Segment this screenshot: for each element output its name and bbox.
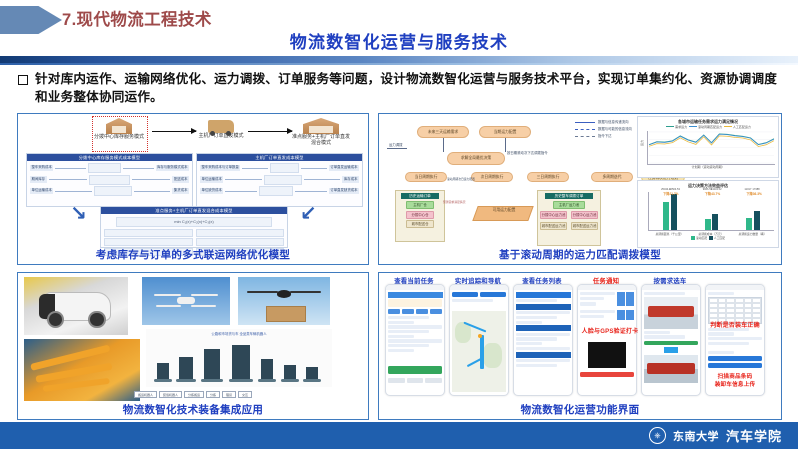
- lineup-label: 分拣: [206, 391, 220, 398]
- connector-line: [443, 138, 444, 152]
- panel1-diagram: 分拨中心库存服务模式 主机厂订单直发模式 准点服务+主机厂订单直发混合模式 分拨…: [18, 114, 368, 248]
- curved-arrow-left-icon: ↘: [70, 204, 87, 224]
- route-map[interactable]: [452, 311, 506, 392]
- node-oem-direct: 主机厂订单直发模式: [198, 120, 244, 140]
- phone-task-notification: [577, 284, 637, 396]
- phone-task-list: [513, 284, 573, 396]
- panel2-caption: 基于滚动周期的运力匹配调拨模型: [379, 247, 781, 262]
- slide-title: 物流数智化运营与服务技术: [0, 28, 798, 53]
- confirm-button[interactable]: [388, 366, 442, 374]
- lineup-label: 搬运机器人: [134, 391, 157, 398]
- node-available-capacity: 可用运力配置: [472, 206, 533, 221]
- checkin-button[interactable]: [580, 372, 634, 377]
- lineup-label: 交互: [238, 391, 252, 398]
- bar-rolling: 25434.4: [663, 202, 669, 230]
- scan-button-2[interactable]: [708, 363, 762, 368]
- bullet-text: 针对库内运作、运输网络优化、运力调拨、订单服务等问题，设计物流数智化运营与服务技…: [35, 70, 784, 107]
- lineup-label: 理货: [222, 391, 236, 398]
- header-divider-gradient: [0, 56, 798, 63]
- node-day3-exec: 三日周期执行: [527, 172, 569, 182]
- curved-arrow-right-icon: ↙: [300, 204, 317, 224]
- robot-lineup-photo: 公路和市场货与车 全品类车辆机器人: [146, 329, 332, 387]
- node-hybrid-mode: 准点服务+主机厂订单直发混合模式: [292, 118, 350, 147]
- phone-select-vehicle: [641, 284, 701, 396]
- group-capacity-pools: 历史整车调拨订单 主机厂运力池 分拨中心运力池 分拨中心运力池 城市配送运力池 …: [537, 190, 601, 246]
- flow-arrow-1: [152, 131, 196, 132]
- phone-current-task: [385, 284, 445, 396]
- qr-code-image: [588, 342, 626, 368]
- panel-operation-interfaces: 查看当前任务 实时追踪和导航: [378, 272, 782, 420]
- university-crest-icon: ⎈: [649, 427, 666, 444]
- label-demand-satisfaction: 预测需求满足情况: [443, 200, 465, 206]
- objective-formula: min C₁(x)+C₂(x)+C₃(x): [116, 217, 272, 227]
- connector-line: [505, 138, 506, 152]
- truck-photo-1: [644, 297, 698, 329]
- nav-button-1[interactable]: [452, 292, 478, 297]
- cargo-drone-photo: [238, 277, 330, 325]
- warehouse-truck-icon: [303, 118, 339, 134]
- bar-annotation: 下降21.7%: [663, 191, 678, 196]
- note-scan-line1: 扫描商品条码: [697, 374, 773, 380]
- model-box-hybrid: 准点服务+主机厂订单直发混合成本模型 min C₁(x)+C₂(x)+C₃(x): [100, 206, 288, 248]
- node-multi-period: 多周期迭代: [591, 172, 633, 182]
- bar-manual: 32504.53: [671, 194, 677, 229]
- bar-group: 下降21.7%25434.432504.53: [663, 192, 677, 230]
- task-action-chips[interactable]: [388, 309, 442, 314]
- action-chip[interactable]: [664, 347, 678, 353]
- bar-group: 下降43.7%9966.5314234.52: [705, 192, 719, 230]
- chart1-svg: [648, 131, 775, 164]
- square-bullet-icon: [18, 75, 28, 85]
- panel4-caption: 物流数智化运营功能界面: [379, 402, 781, 417]
- phone-tracking-navigation: [449, 284, 509, 396]
- model-box-inventory: 分拨中心库存服务模式成本模型 整车采购成本库存与服务模式成本 期间库存配送成本 …: [26, 153, 193, 207]
- panel-network-optimization-model: 分拨中心库存服务模式 主机厂订单直发模式 准点服务+主机厂订单直发混合模式 分拨…: [17, 113, 369, 265]
- node-future-demand: 未来三天运输需求: [417, 126, 469, 138]
- flow-legend: 数据与信息传递流向 数据与可能的信息流向 指令下达: [575, 119, 632, 139]
- panel1-caption: 考虑库存与订单的多式联运网络优化模型: [18, 247, 368, 262]
- bar-group: 下降36.3%1101717388: [746, 192, 760, 230]
- select-confirm-button[interactable]: [644, 341, 698, 345]
- node-day2-exec: 次日周期执行: [471, 172, 513, 182]
- bar-rolling: 9966.53: [705, 219, 711, 230]
- bar-manual: 14234.52: [712, 214, 718, 229]
- chart2-bars: 下降21.7%25434.432504.53下降43.7%9966.531423…: [648, 192, 774, 231]
- panel3-photos: 公路和市场货与车 全品类车辆机器人 搬运机器人装载机器人分拣搬运分拣理货交互: [18, 273, 368, 403]
- bar-rolling: 11017: [746, 218, 752, 230]
- bar-manual: 17388: [754, 211, 760, 230]
- chart-capacity-benefit: 运力决策方法效益评估 下降21.7%25434.432504.53下降43.7%…: [637, 180, 779, 248]
- task-list-header: [516, 292, 571, 298]
- bar-annotation: 下降43.7%: [705, 191, 720, 196]
- bullet-paragraph: 针对库内运作、运输网络优化、运力调拨、订单服务等问题，设计物流数智化运营与服务技…: [18, 70, 784, 107]
- connector-line: [387, 148, 407, 149]
- bar-annotation: 下降36.3%: [746, 191, 761, 196]
- chart1-plot: [647, 131, 775, 165]
- label-rolling-instruction: 按日期滚动次下达调拨指令: [507, 150, 548, 157]
- panel3-caption: 物流数智化技术装备集成应用: [18, 402, 368, 417]
- panel-capacity-matching-model: 数据与信息传递流向 数据与可能的信息流向 指令下达 未来三天运输需求 当期运力配…: [378, 113, 782, 265]
- robot-lineup-title: 公路和市场货与车 全品类车辆机器人: [146, 331, 332, 336]
- flow-arrow-2: [248, 131, 292, 132]
- note-scan-line2: 装卸车信息上传: [697, 382, 773, 388]
- node-global-optimum: 求解全局最优决策: [447, 152, 505, 165]
- college-name: 汽车学院: [726, 426, 782, 445]
- chart2-legend: 滚动匹配 人工匹配: [638, 236, 778, 240]
- chart-demand-satisfaction: 各城市运输任务需求运力满足情况 需求运力 滚动周期匹配运力 人工匹配运力 计划期…: [637, 116, 779, 178]
- quadcopter-drone-photo: [142, 277, 230, 325]
- scan-button-1[interactable]: [708, 356, 762, 361]
- lineup-label: 装载机器人: [159, 391, 182, 398]
- panel2-diagram: 数据与信息传递流向 数据与可能的信息流向 指令下达 未来三天运输需求 当期运力配…: [379, 114, 781, 248]
- bar-category-label: 总调拨距离（千公里）: [655, 232, 683, 236]
- section-number-title: 7.现代物流工程技术: [62, 6, 212, 30]
- bar-category-label: 总调拨运力数量（辆）: [739, 232, 767, 236]
- node-day1-exec: 当日周期执行: [405, 172, 447, 182]
- slide-footer: ⎈ 东南大学 汽车学院: [0, 422, 798, 449]
- node-distribution-center: 分拨中心库存服务模式: [94, 118, 144, 141]
- truck-photo-2: [644, 355, 698, 383]
- panel-equipment-integration: 公路和市场货与车 全品类车辆机器人 搬运机器人装载机器人分拣搬运分拣理货交互 物…: [17, 272, 369, 420]
- nav-button-2[interactable]: [480, 292, 506, 297]
- vehicle-marker-icon: [478, 334, 482, 338]
- header-divider-thin: [0, 63, 798, 65]
- node-current-capacity: 当期运力配置: [479, 126, 531, 138]
- label-next-day-capacity: 滚动周期次日运力配置: [447, 177, 475, 183]
- panel4-phones: 查看当前任务 实时追踪和导航: [379, 273, 781, 403]
- robot-lineup-labels: 搬运机器人装载机器人分拣搬运分拣理货交互: [18, 391, 368, 398]
- warehouse-icon: [106, 118, 132, 134]
- university-name: 东南大学: [673, 428, 719, 444]
- model-box-direct-order: 主机厂订单直发成本模型 整车采购成本与订单数量订单直发运输成本 单位运输成本库存…: [196, 153, 363, 207]
- chart1-legend: 需求运力 滚动周期匹配运力 人工匹配运力: [638, 125, 778, 129]
- truck-icon: [208, 120, 234, 133]
- group-historical-orders: 历史运输订单 主机厂仓 分拨中心仓 城市配送仓: [395, 190, 445, 242]
- delivery-robot-photo: [24, 277, 128, 335]
- note-loading-verification: 判断是否装车正确: [697, 323, 773, 330]
- loading-plan-table: [708, 297, 762, 324]
- lineup-label: 分拣搬运: [184, 391, 204, 398]
